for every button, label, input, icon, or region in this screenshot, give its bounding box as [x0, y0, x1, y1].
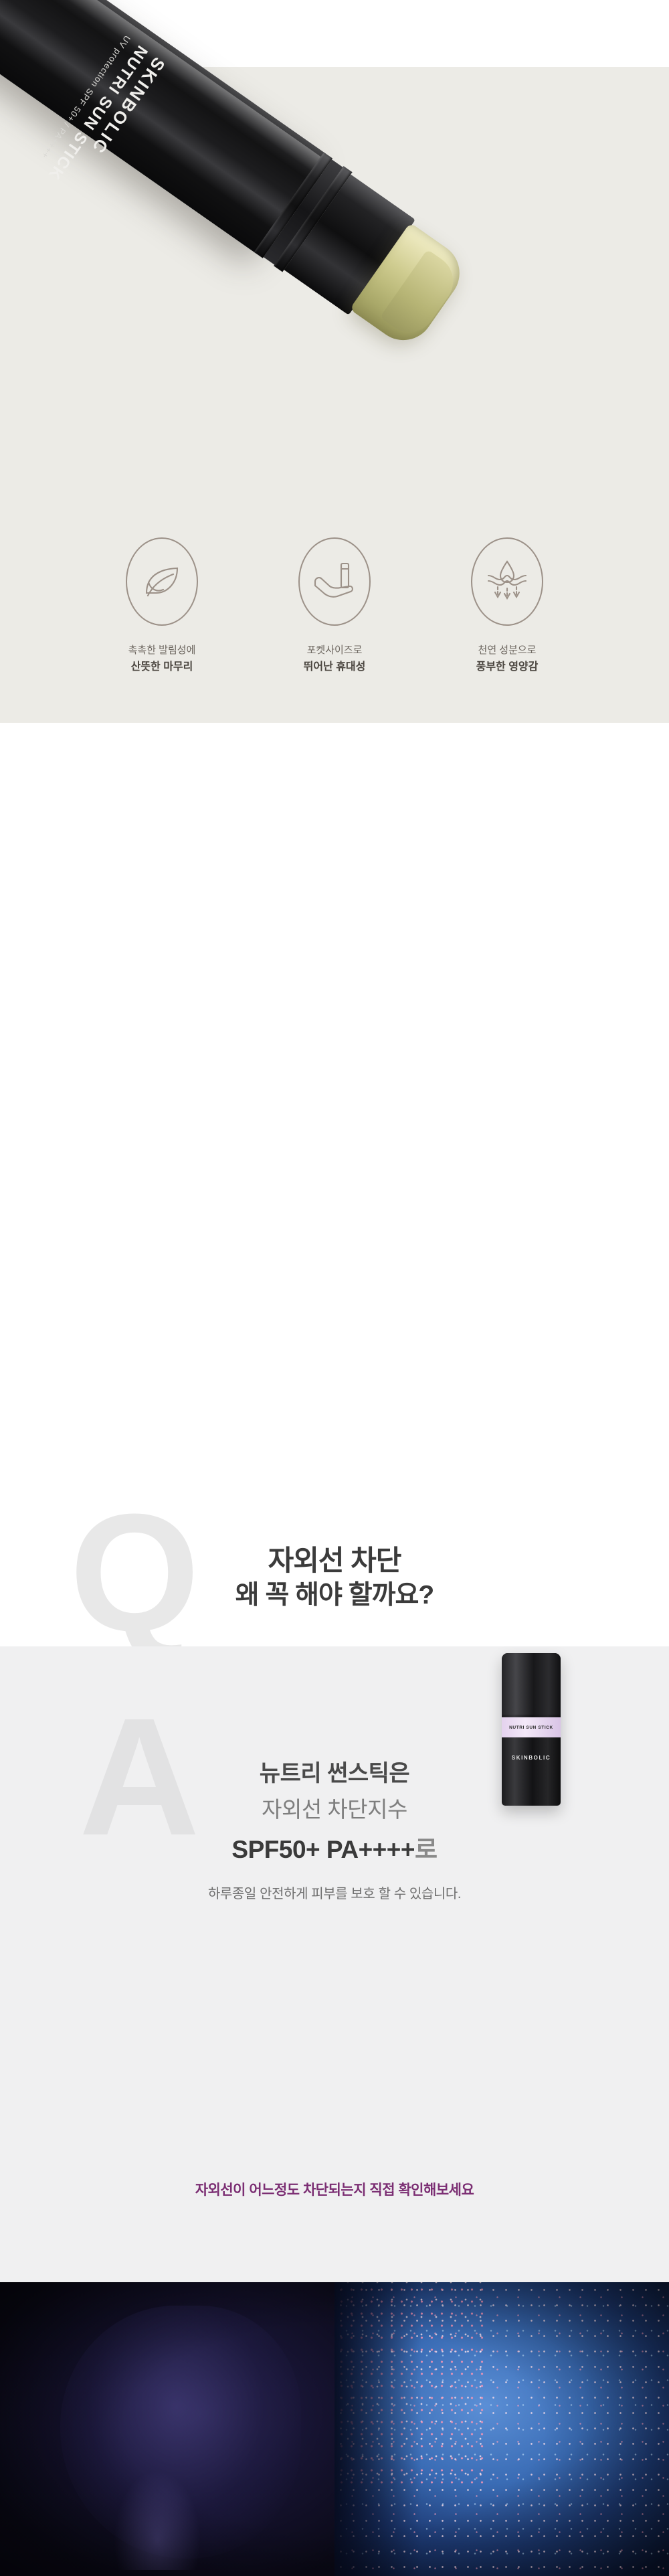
answer-text-block: 뉴트리 썬스틱은 자외선 차단지수 SPF50+ PA++++로 하루종일 안전… [0, 1755, 669, 1902]
feature-line-1: 천연 성분으로 [447, 643, 567, 658]
feature-caption: 촉촉한 발림성에 산뜻한 마무리 [102, 643, 222, 675]
feature-line-2: 산뜻한 마무리 [102, 659, 222, 675]
feature-line-2: 풍부한 영양감 [447, 659, 567, 675]
feature-item-portable: 포켓사이즈로 뛰어난 휴대성 [274, 537, 395, 675]
uv-camera-comparison-image [0, 2282, 669, 2576]
feature-line-1: 촉촉한 발림성에 [102, 643, 222, 658]
answer-line-2: 자외선 차단지수 [0, 1792, 669, 1824]
question-headline: 자외선 차단 왜 꼭 해야 할까요? [0, 1543, 669, 1612]
uv-demo-title: 자외선이 어느정도 차단되는지 직접 확인해보세요 [0, 2179, 669, 2199]
feature-icon-frame [298, 537, 371, 626]
balm-inner-edge [380, 249, 464, 342]
answer-spf-value: SPF50+ PA++++ [231, 1836, 415, 1863]
question-section: Q 자외선 차단 왜 꼭 해야 할까요? UVB 피부를 손상 시키는 자외선 … [0, 723, 669, 1646]
answer-line-3: SPF50+ PA++++로 [0, 1829, 669, 1865]
hand-stick-icon [313, 562, 356, 602]
bottle-cap [502, 1653, 561, 1715]
hero-section: SKINBOLIC NUTRI SUN STICK UV protection … [0, 0, 669, 723]
feature-list: 촉촉한 발림성에 산뜻한 마무리 포켓사이즈로 뛰어난 휴대성 [0, 537, 669, 675]
question-headline-line-2: 왜 꼭 해야 할까요? [0, 1579, 669, 1612]
feature-caption: 천연 성분으로 풍부한 영양감 [447, 643, 567, 675]
answer-line-4: 하루종일 안전하게 피부를 보호 할 수 있습니다. [0, 1883, 669, 1902]
feature-icon-frame [126, 537, 198, 626]
answer-section: A NUTRI SUN STICK SKINBOLIC 뉴트리 썬스틱은 자외선… [0, 1646, 669, 2282]
bottle-label-text: NUTRI SUN STICK [509, 1725, 553, 1730]
answer-spf-tail: 로 [415, 1836, 438, 1863]
feature-line-1: 포켓사이즈로 [274, 643, 395, 658]
droplet-skin-icon [486, 560, 529, 604]
uv-vignette [0, 2282, 669, 2576]
feature-caption: 포켓사이즈로 뛰어난 휴대성 [274, 643, 395, 675]
leaf-icon [141, 562, 183, 602]
question-headline-line-1: 자외선 차단 [0, 1543, 669, 1579]
feature-item-natural: 천연 성분으로 풍부한 영양감 [447, 537, 567, 675]
bottle-label-band: NUTRI SUN STICK [502, 1717, 561, 1737]
feature-line-2: 뛰어난 휴대성 [274, 659, 395, 675]
answer-line-1: 뉴트리 썬스틱은 [0, 1755, 669, 1788]
feature-icon-frame [471, 537, 543, 626]
product-stick-image: SKINBOLIC NUTRI SUN STICK UV protection … [0, 0, 492, 527]
feature-item-moisture: 촉촉한 발림성에 산뜻한 마무리 [102, 537, 222, 675]
